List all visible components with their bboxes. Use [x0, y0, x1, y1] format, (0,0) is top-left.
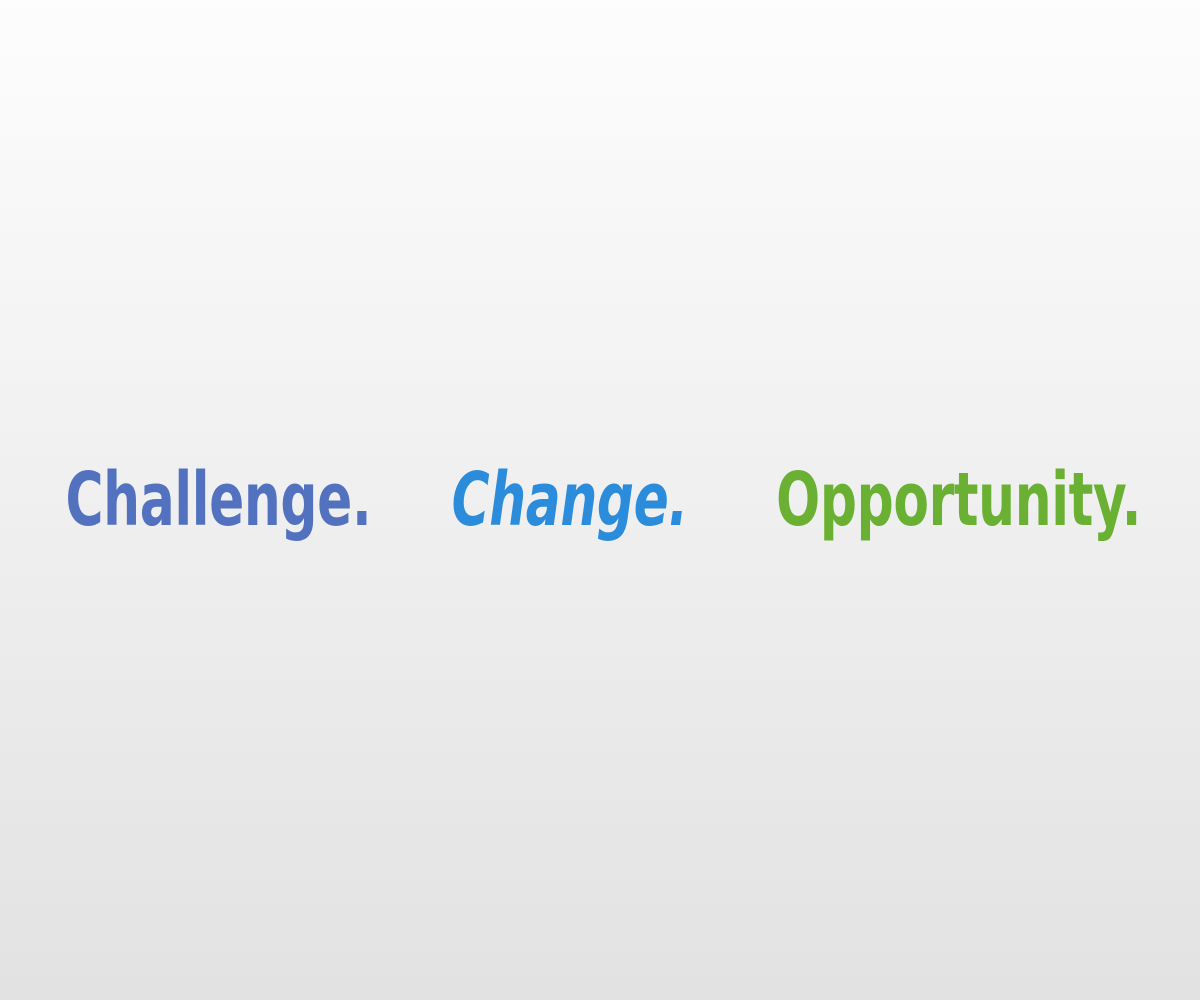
headline-word-opportunity: Opportunity. [776, 463, 1141, 537]
headline-word-challenge: Challenge. [66, 463, 372, 537]
headline: Challenge.Change.Opportunity. [0, 463, 1200, 537]
headline-word-change: Change. [451, 463, 687, 537]
slide-canvas: Challenge.Change.Opportunity. [0, 0, 1200, 1000]
